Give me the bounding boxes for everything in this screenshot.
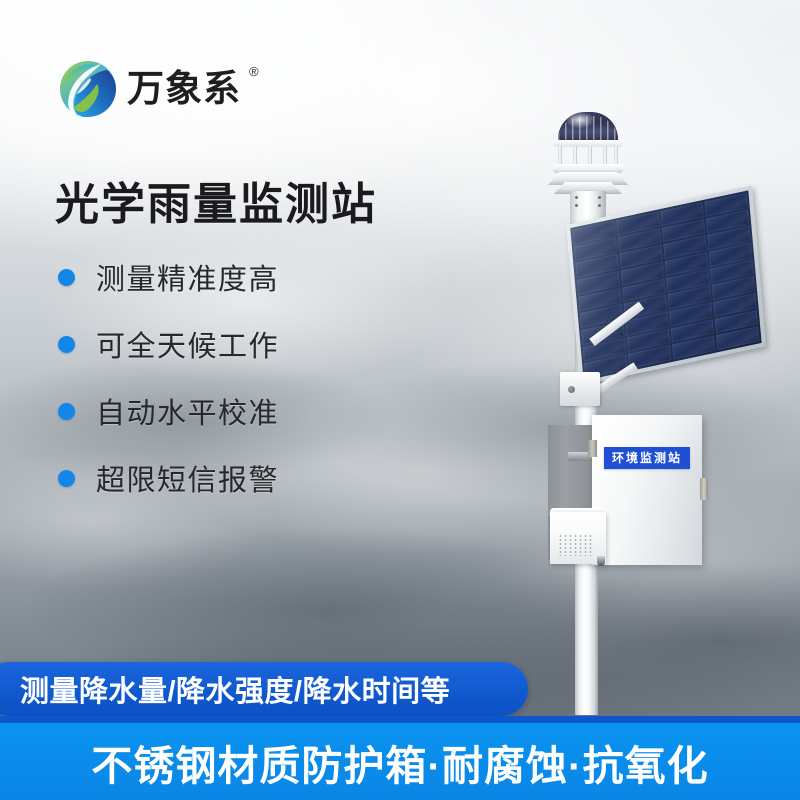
module-vent-grid: [558, 534, 592, 556]
sensor-post: [603, 146, 607, 166]
swirl-globe-logo-icon: [57, 58, 119, 120]
product-banner: 环境监测站: [0, 0, 800, 800]
sensor-bolt: [575, 204, 578, 207]
measurement-banner: 测量降水量/降水强度/降水时间等: [0, 662, 528, 716]
module-drain-nub: [597, 556, 605, 566]
sensor-post: [573, 146, 577, 166]
sensor-bolt: [598, 196, 601, 199]
feature-label: 可全天候工作: [96, 323, 279, 365]
sensor-bolt: [598, 204, 601, 207]
sensor-bolt: [575, 196, 578, 199]
bullet-dot-icon: [58, 269, 75, 286]
enclosure-label-text: 环境监测站: [612, 452, 682, 464]
bullet-dot-icon: [58, 403, 75, 420]
bullet-dot-icon: [58, 470, 75, 487]
enclosure-hinge-top: [588, 440, 597, 457]
enclosure-nameplate: 环境监测站: [604, 447, 690, 469]
trademark-symbol: ®: [249, 64, 259, 79]
sensor-post: [614, 146, 618, 166]
bottom-bar-accent-strip: [0, 716, 800, 723]
sensor-post-row: [556, 146, 620, 166]
list-item: 自动水平校准: [58, 392, 279, 430]
enclosure-door-glare: [592, 415, 702, 565]
measurement-banner-text: 测量降水量/降水强度/降水时间等: [20, 668, 450, 710]
bracket-bolt: [568, 386, 575, 393]
bottom-banner-text: 不锈钢材质防护箱·耐腐蚀·抗氧化: [91, 732, 708, 792]
list-item: 超限短信报警: [58, 459, 279, 497]
bullet-dot-icon: [58, 336, 75, 353]
sensor-post: [588, 146, 592, 166]
page-title: 光学雨量监测站: [55, 168, 377, 232]
list-item: 测量精准度高: [58, 258, 279, 296]
feature-label: 测量精准度高: [96, 256, 279, 298]
enclosure-latch: [700, 478, 708, 500]
sensor-ring: [552, 164, 624, 173]
feature-list: 测量精准度高 可全天候工作 自动水平校准 超限短信报警: [58, 258, 279, 526]
brand-logo: 万象系 ®: [57, 58, 267, 120]
feature-label: 超限短信报警: [96, 457, 279, 499]
optical-rain-sensor-icon: [540, 112, 636, 212]
list-item: 可全天候工作: [58, 325, 279, 363]
brand-name: 万象系: [127, 68, 241, 110]
sensor-post: [558, 146, 562, 166]
pole-clamp-bracket: [560, 372, 600, 406]
bottom-banner: 不锈钢材质防护箱·耐腐蚀·抗氧化: [0, 723, 800, 800]
feature-label: 自动水平校准: [96, 390, 279, 432]
